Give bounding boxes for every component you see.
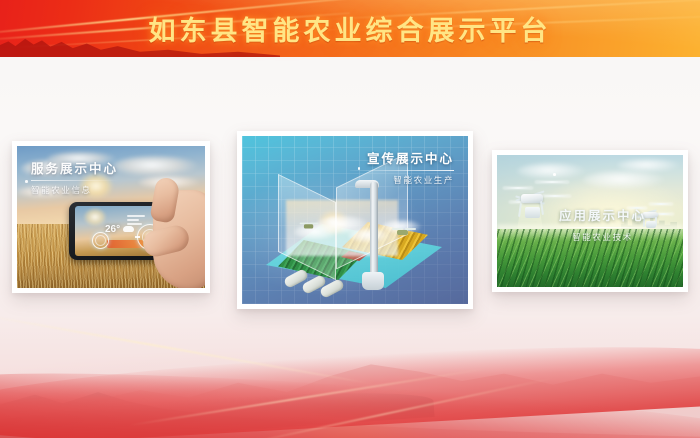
drone-icon xyxy=(392,226,420,240)
hud-temperature-readout: 26° xyxy=(105,224,120,235)
card-application-center-image: 应用展示中心 智能农业技术 xyxy=(497,155,683,287)
cloud-icon xyxy=(617,159,681,172)
card-publicity-center[interactable]: 宣传展示中心 智能农业生产 xyxy=(237,131,473,309)
card-application-center-title: 应用展示中心 xyxy=(559,209,646,224)
card-publicity-center-image: 宣传展示中心 智能农业生产 xyxy=(242,136,468,304)
drone-rotor xyxy=(535,181,569,183)
card-service-center-image: 26° 服务展示中心 智能农业信息 xyxy=(17,146,205,288)
card-publicity-center-title: 宣传展示中心 xyxy=(350,152,454,167)
hud-ring-inner-icon xyxy=(95,235,106,246)
drone-spray-tank xyxy=(525,207,540,218)
drone-rotor xyxy=(649,203,673,205)
sensor-pole xyxy=(370,182,378,278)
drone-body xyxy=(304,224,313,228)
sensor-pole-base xyxy=(362,272,384,290)
card-service-center-subtitle: 智能农业信息 xyxy=(31,185,119,195)
drone-spray-tank xyxy=(646,221,656,228)
bullet-dot-icon xyxy=(25,180,28,183)
drone-rotor xyxy=(503,187,533,189)
title-rule xyxy=(350,170,454,171)
card-application-center-text: 应用展示中心 智能农业技术 xyxy=(559,209,646,242)
card-application-center[interactable]: 应用展示中心 智能农业技术 xyxy=(492,150,688,292)
card-publicity-center-subtitle: 智能农业生产 xyxy=(350,175,454,185)
title-rule xyxy=(560,227,646,228)
drone-rotor xyxy=(539,195,571,197)
cloud-icon xyxy=(113,156,199,176)
card-service-center[interactable]: 26° 服务展示中心 智能农业信息 xyxy=(12,141,210,293)
card-publicity-center-text: 宣传展示中心 智能农业生产 xyxy=(350,152,454,185)
hand-holding-phone xyxy=(129,180,205,288)
drone-leg xyxy=(518,203,522,217)
platform-landing-page: 如东县智能农业综合展示平台 26° xyxy=(0,0,700,438)
page-title: 如东县智能农业综合展示平台 xyxy=(0,0,700,57)
title-rule xyxy=(31,180,119,181)
cloud-icon xyxy=(583,171,667,189)
bullet-dot-icon xyxy=(553,173,556,176)
drone-body xyxy=(397,230,408,235)
card-service-center-text: 服务展示中心 智能农业信息 xyxy=(31,162,119,195)
card-application-center-subtitle: 智能农业技术 xyxy=(559,232,646,242)
card-service-center-title: 服务展示中心 xyxy=(31,162,119,177)
drone-icon xyxy=(300,221,319,231)
